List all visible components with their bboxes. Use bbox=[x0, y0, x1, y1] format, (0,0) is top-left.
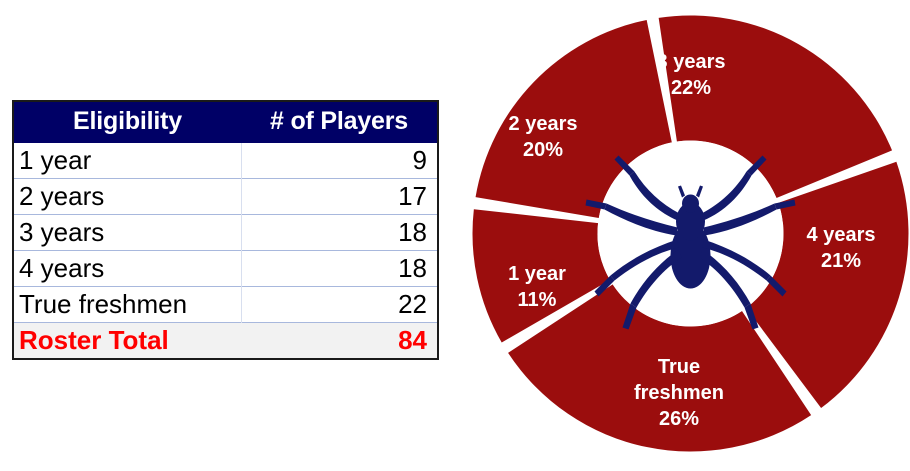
column-header-players: # of Players bbox=[241, 101, 438, 143]
cell-total-value: 84 bbox=[241, 323, 438, 360]
table-body: 1 year 9 2 years 17 3 years 18 4 years 1… bbox=[13, 143, 438, 359]
donut-svg: 3 years22%4 years21%Truefreshmen26%1 yea… bbox=[472, 15, 909, 452]
cell-eligibility: 1 year bbox=[13, 143, 241, 179]
cell-players: 18 bbox=[241, 251, 438, 287]
table-header-row: Eligibility # of Players bbox=[13, 101, 438, 143]
table-header: Eligibility # of Players bbox=[13, 101, 438, 143]
cell-eligibility: True freshmen bbox=[13, 287, 241, 323]
roster-eligibility-donut-chart: 3 years22%4 years21%Truefreshmen26%1 yea… bbox=[472, 15, 909, 452]
cell-players: 18 bbox=[241, 215, 438, 251]
cell-total-label: Roster Total bbox=[13, 323, 241, 360]
table-row: 4 years 18 bbox=[13, 251, 438, 287]
cell-players: 22 bbox=[241, 287, 438, 323]
cell-eligibility: 2 years bbox=[13, 179, 241, 215]
table-row: True freshmen 22 bbox=[13, 287, 438, 323]
table-row: 3 years 18 bbox=[13, 215, 438, 251]
cell-eligibility: 4 years bbox=[13, 251, 241, 287]
cell-players: 9 bbox=[241, 143, 438, 179]
table-row: 2 years 17 bbox=[13, 179, 438, 215]
column-header-eligibility: Eligibility bbox=[13, 101, 241, 143]
cell-players: 17 bbox=[241, 179, 438, 215]
cell-eligibility: 3 years bbox=[13, 215, 241, 251]
table-row: 1 year 9 bbox=[13, 143, 438, 179]
table-total-row: Roster Total 84 bbox=[13, 323, 438, 360]
roster-eligibility-table: Eligibility # of Players 1 year 9 2 year… bbox=[12, 100, 439, 360]
